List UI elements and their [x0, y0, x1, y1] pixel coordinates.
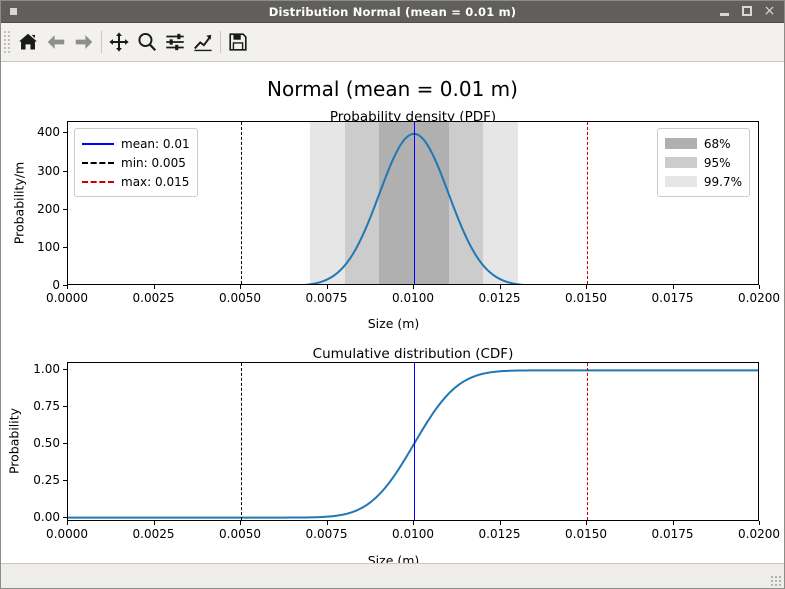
- x-tick-label: 0.0150: [565, 527, 607, 541]
- pdf-mean-line: [414, 122, 415, 284]
- figure-canvas[interactable]: Normal (mean = 0.01 m) Probability densi…: [1, 62, 784, 563]
- maximize-icon[interactable]: [741, 5, 754, 18]
- x-tick-mark: [413, 521, 414, 525]
- y-tick-label: 300: [5, 164, 60, 178]
- y-tick-label: 400: [5, 125, 60, 139]
- min-line-icon: [82, 162, 114, 164]
- pan-move-icon[interactable]: [105, 28, 133, 56]
- x-tick-mark: [67, 521, 68, 525]
- x-tick-mark: [413, 285, 414, 289]
- y-tick-label: 100: [5, 240, 60, 254]
- forward-arrow-icon[interactable]: [70, 28, 98, 56]
- save-floppy-icon[interactable]: [224, 28, 252, 56]
- pdf-legend-lines[interactable]: mean: 0.01 min: 0.005 max: 0.015: [74, 128, 198, 197]
- zoom-magnifier-icon[interactable]: [133, 28, 161, 56]
- x-tick-mark: [154, 521, 155, 525]
- legend-entry-max: max: 0.015: [82, 172, 190, 191]
- max-line-icon: [82, 181, 114, 183]
- y-tick-mark: [63, 369, 67, 370]
- legend-entry-68: 68%: [665, 134, 742, 153]
- x-tick-label: 0.0200: [738, 291, 780, 305]
- x-tick-mark: [500, 521, 501, 525]
- minimize-icon[interactable]: [719, 5, 732, 18]
- window-menu-icon[interactable]: [10, 8, 17, 15]
- legend-label-99-7: 99.7%: [704, 175, 742, 189]
- cdf-mean-line: [414, 363, 415, 520]
- y-tick-mark: [63, 247, 67, 248]
- pdf-x-axis-label: Size (m): [1, 316, 784, 331]
- cdf-axes-title: Cumulative distribution (CDF): [67, 346, 759, 362]
- x-tick-label: 0.0050: [219, 527, 261, 541]
- y-tick-mark: [63, 406, 67, 407]
- configure-subplots-icon[interactable]: [161, 28, 189, 56]
- x-tick-label: 0.0200: [738, 527, 780, 541]
- x-tick-label: 0.0125: [479, 291, 521, 305]
- x-tick-mark: [759, 521, 760, 525]
- toolbar-drag-grip[interactable]: [3, 30, 11, 54]
- pdf-max-line: [587, 122, 588, 284]
- y-tick-label: 0.75: [5, 399, 60, 413]
- legend-label-min: min: 0.005: [121, 156, 186, 170]
- legend-label-68: 68%: [704, 137, 731, 151]
- legend-label-95: 95%: [704, 156, 731, 170]
- cdf-x-axis-label: Size (m): [1, 553, 784, 563]
- toolbar-separator-2: [220, 31, 221, 53]
- y-tick-mark: [63, 285, 67, 286]
- x-tick-label: 0.0050: [219, 291, 261, 305]
- edit-curves-icon[interactable]: [189, 28, 217, 56]
- y-tick-label: 1.00: [5, 362, 60, 376]
- x-tick-mark: [240, 285, 241, 289]
- back-arrow-icon[interactable]: [42, 28, 70, 56]
- legend-entry-997: 99.7%: [665, 172, 742, 191]
- x-tick-label: 0.0175: [652, 291, 694, 305]
- x-tick-mark: [500, 285, 501, 289]
- x-tick-label: 0.0150: [565, 291, 607, 305]
- resize-grip[interactable]: [770, 575, 782, 587]
- x-tick-mark: [586, 521, 587, 525]
- cdf-axes[interactable]: [67, 362, 759, 521]
- figure-suptitle: Normal (mean = 0.01 m): [1, 77, 784, 101]
- cdf-max-line: [587, 363, 588, 520]
- close-icon[interactable]: ×: [763, 5, 776, 18]
- y-tick-mark: [63, 517, 67, 518]
- legend-label-max: max: 0.015: [121, 175, 189, 189]
- legend-entry-min: min: 0.005: [82, 153, 190, 172]
- x-tick-label: 0.0000: [46, 291, 88, 305]
- y-tick-mark: [63, 171, 67, 172]
- band-68-swatch: [665, 138, 697, 149]
- mean-line-icon: [82, 143, 114, 145]
- legend-entry-95: 95%: [665, 153, 742, 172]
- matplotlib-toolbar: [1, 23, 784, 62]
- title-bar: Distribution Normal (mean = 0.01 m) ×: [1, 1, 784, 23]
- x-tick-mark: [327, 521, 328, 525]
- band-95-swatch: [665, 157, 697, 168]
- x-tick-label: 0.0125: [479, 527, 521, 541]
- pdf-legend-bands[interactable]: 68% 95% 99.7%: [657, 128, 750, 197]
- x-tick-mark: [327, 285, 328, 289]
- cdf-min-line: [241, 363, 242, 520]
- x-tick-label: 0.0175: [652, 527, 694, 541]
- y-tick-label: 0.50: [5, 436, 60, 450]
- x-tick-mark: [586, 285, 587, 289]
- y-tick-mark: [63, 443, 67, 444]
- y-tick-mark: [63, 209, 67, 210]
- x-tick-label: 0.0075: [306, 527, 348, 541]
- band-99-7-swatch: [665, 176, 697, 187]
- x-tick-mark: [67, 285, 68, 289]
- x-tick-mark: [154, 285, 155, 289]
- x-tick-label: 0.0075: [306, 291, 348, 305]
- legend-entry-mean: mean: 0.01: [82, 134, 190, 153]
- y-tick-label: 0: [5, 278, 60, 292]
- window-controls: ×: [719, 5, 784, 18]
- x-tick-label: 0.0025: [133, 527, 175, 541]
- home-icon[interactable]: [14, 28, 42, 56]
- y-tick-mark: [63, 480, 67, 481]
- x-tick-mark: [673, 285, 674, 289]
- x-tick-mark: [240, 521, 241, 525]
- y-tick-label: 0.00: [5, 510, 60, 524]
- y-tick-label: 0.25: [5, 473, 60, 487]
- y-tick-mark: [63, 132, 67, 133]
- window-title: Distribution Normal (mean = 0.01 m): [1, 5, 784, 19]
- x-tick-mark: [673, 521, 674, 525]
- x-tick-label: 0.0000: [46, 527, 88, 541]
- pdf-min-line: [241, 122, 242, 284]
- x-tick-label: 0.0100: [392, 291, 434, 305]
- x-tick-label: 0.0100: [392, 527, 434, 541]
- legend-label-mean: mean: 0.01: [121, 137, 190, 151]
- status-bar: [1, 563, 784, 588]
- toolbar-separator: [101, 31, 102, 53]
- x-tick-mark: [759, 285, 760, 289]
- figure-window: Distribution Normal (mean = 0.01 m) ×: [0, 0, 785, 589]
- y-tick-label: 200: [5, 202, 60, 216]
- x-tick-label: 0.0025: [133, 291, 175, 305]
